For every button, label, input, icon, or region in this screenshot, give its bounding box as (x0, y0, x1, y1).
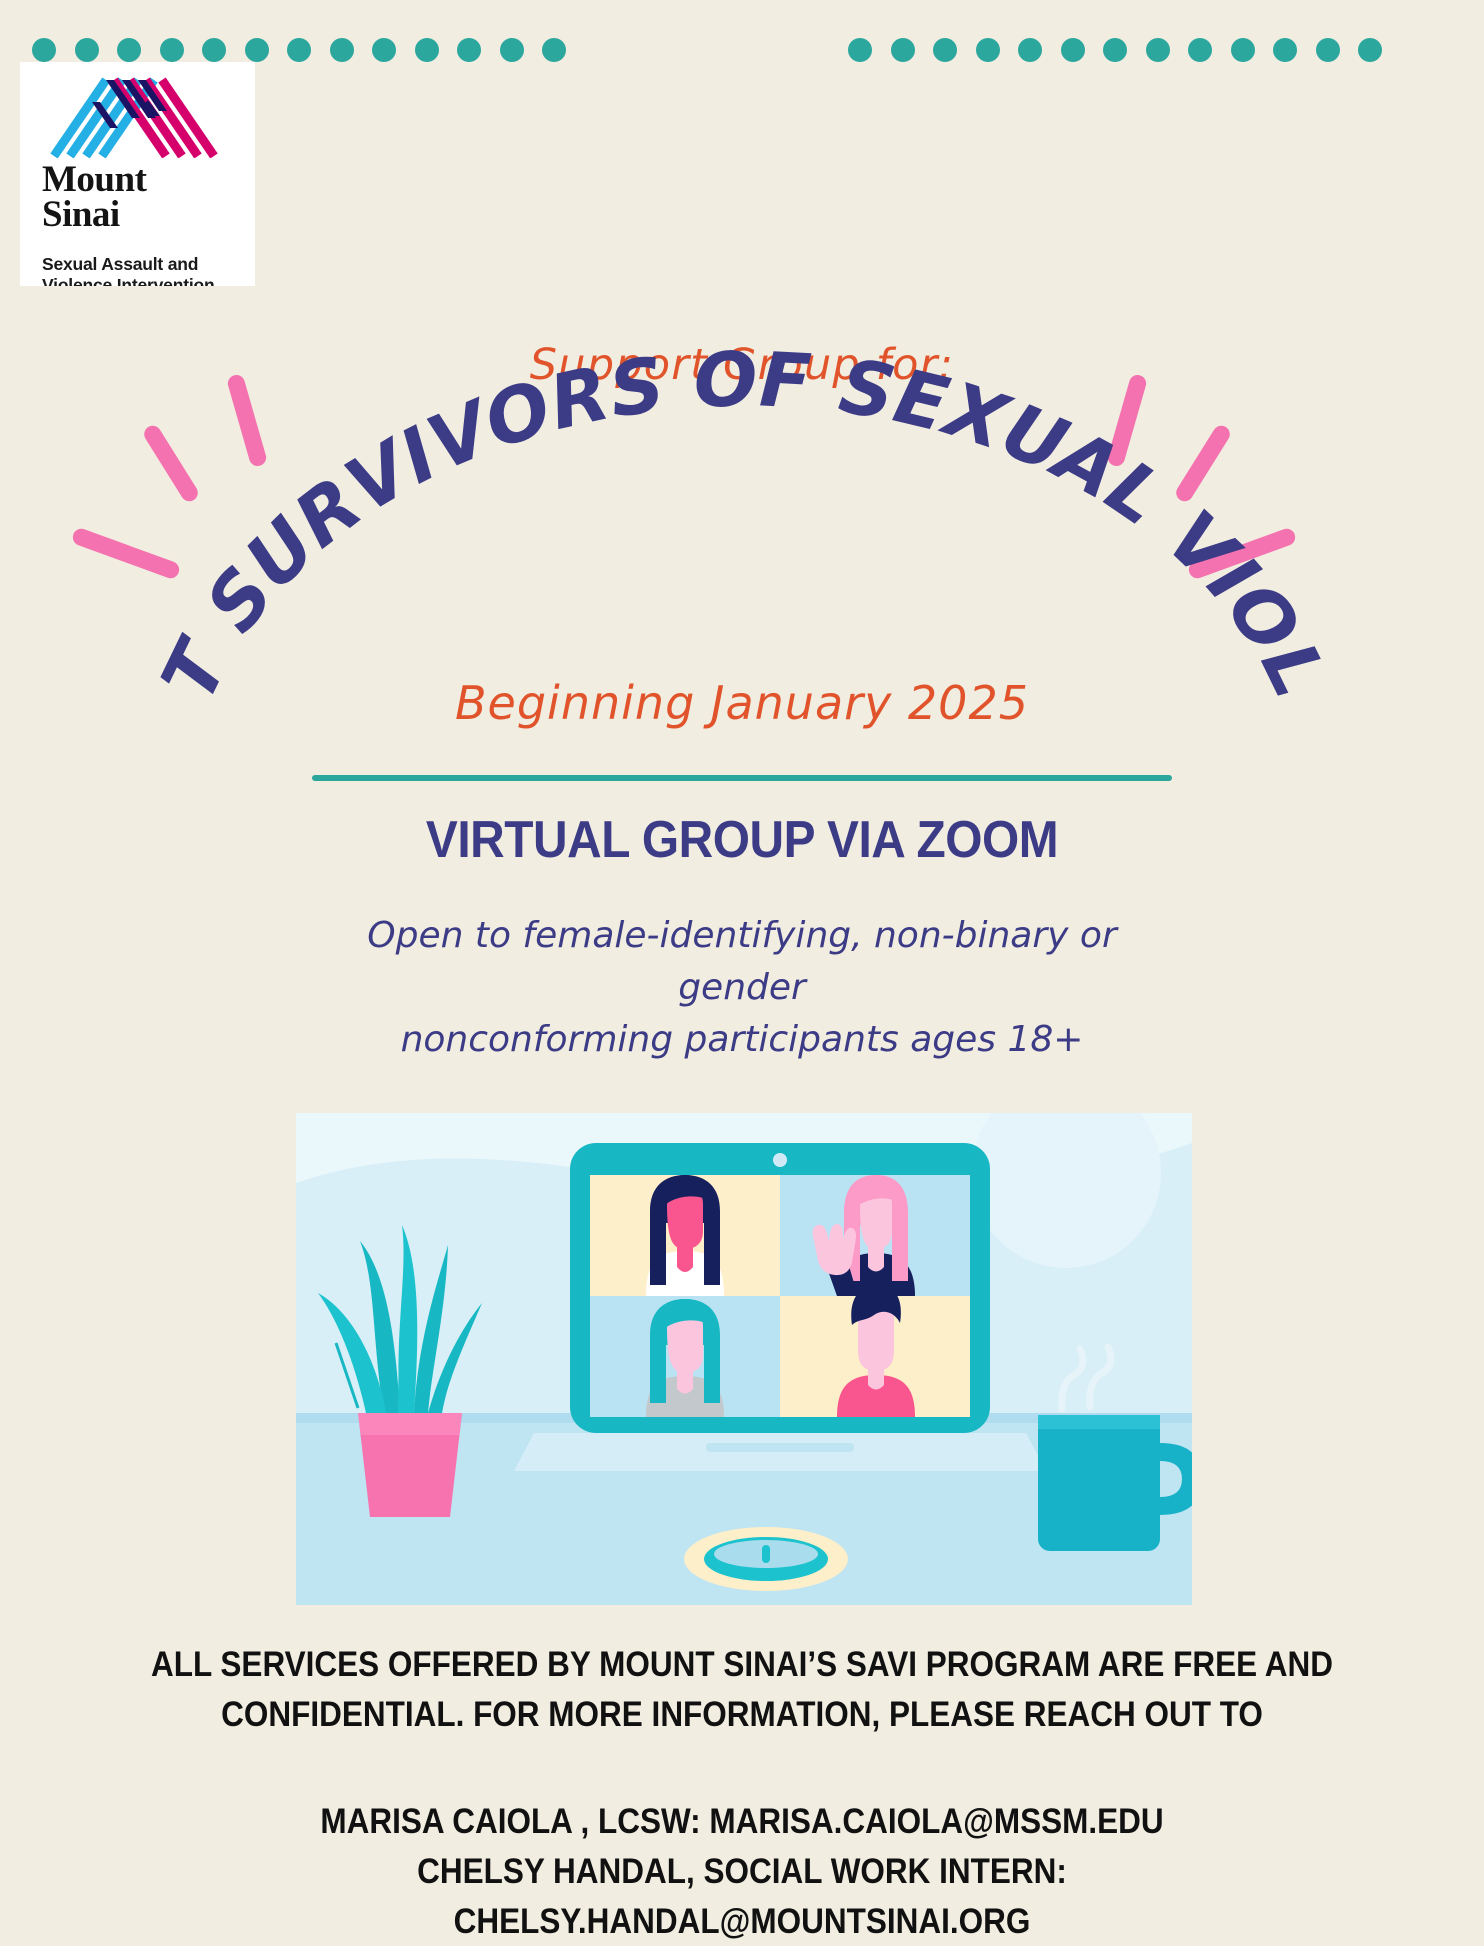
footer-contacts: MARISA CAIOLA , LCSW: MARISA.CAIOLA@MSSM… (128, 1797, 1356, 1946)
meeting-format-heading: VIRTUAL GROUP VIA ZOOM (59, 810, 1424, 870)
border-dot (1103, 38, 1127, 62)
video-call-laptop-illustration (296, 1113, 1192, 1605)
border-dot (500, 38, 524, 62)
contact-chelsy-handal[interactable]: CHELSY HANDAL, SOCIAL WORK INTERN: CHELS… (128, 1847, 1356, 1946)
contact-marisa-caiola[interactable]: MARISA CAIOLA , LCSW: MARISA.CAIOLA@MSSM… (128, 1797, 1356, 1847)
border-dot (1231, 38, 1255, 62)
border-dot (457, 38, 481, 62)
flyer-page: Mount Sinai Sexual Assault and Violence … (0, 0, 1484, 1920)
border-dot (415, 38, 439, 62)
section-divider (312, 775, 1172, 781)
border-dot (75, 38, 99, 62)
computer-mouse-icon (684, 1527, 848, 1591)
mount-sinai-logo: Mount Sinai Sexual Assault and Violence … (20, 62, 255, 286)
border-dot (542, 38, 566, 62)
border-dot (1188, 38, 1212, 62)
border-dot (372, 38, 396, 62)
border-dot (1061, 38, 1085, 62)
participant-avatar-3 (646, 1299, 724, 1417)
border-dot (1316, 38, 1340, 62)
eligibility-line-2: gender (292, 962, 1192, 1014)
eligibility-line-1: Open to female-identifying, non-binary o… (292, 910, 1192, 962)
logo-wordmark: Mount Sinai (42, 162, 242, 232)
border-dot (933, 38, 957, 62)
logo-wordmark-line1: Mount (42, 162, 242, 197)
eligibility-line-3: nonconforming participants ages 18+ (292, 1014, 1192, 1066)
eligibility-text: Open to female-identifying, non-binary o… (292, 910, 1192, 1067)
footer-notice-line-2: CONFIDENTIAL. FOR MORE INFORMATION, PLEA… (128, 1690, 1356, 1740)
border-dot (117, 38, 141, 62)
border-dot (32, 38, 56, 62)
footer-contact-block: ALL SERVICES OFFERED BY MOUNT SINAI’S SA… (60, 1640, 1424, 1946)
border-dot (330, 38, 354, 62)
border-dot (1146, 38, 1170, 62)
border-dot (202, 38, 226, 62)
logo-program-line2: Violence Intervention (42, 275, 247, 286)
border-dot (1273, 38, 1297, 62)
logo-wordmark-line2: Sinai (42, 197, 242, 232)
mount-sinai-logo-icon (48, 70, 220, 158)
border-dot (1018, 38, 1042, 62)
border-dot (1358, 38, 1382, 62)
border-dot (287, 38, 311, 62)
arched-title: ADULT SURVIVORS OF SEXUAL VIOLENCE (0, 390, 1484, 690)
border-dot (976, 38, 1000, 62)
border-dot (848, 38, 872, 62)
border-dot (160, 38, 184, 62)
start-date-text: Beginning January 2025 (0, 676, 1484, 730)
border-dot (245, 38, 269, 62)
logo-program-line1: Sexual Assault and (42, 254, 247, 275)
footer-notice-line-1: ALL SERVICES OFFERED BY MOUNT SINAI’S SA… (128, 1640, 1356, 1690)
participant-avatar-1 (646, 1175, 724, 1296)
border-dot (891, 38, 915, 62)
logo-program-name: Sexual Assault and Violence Intervention… (42, 254, 247, 286)
laptop-icon (508, 1143, 1052, 1485)
footer-notice: ALL SERVICES OFFERED BY MOUNT SINAI’S SA… (128, 1640, 1356, 1739)
